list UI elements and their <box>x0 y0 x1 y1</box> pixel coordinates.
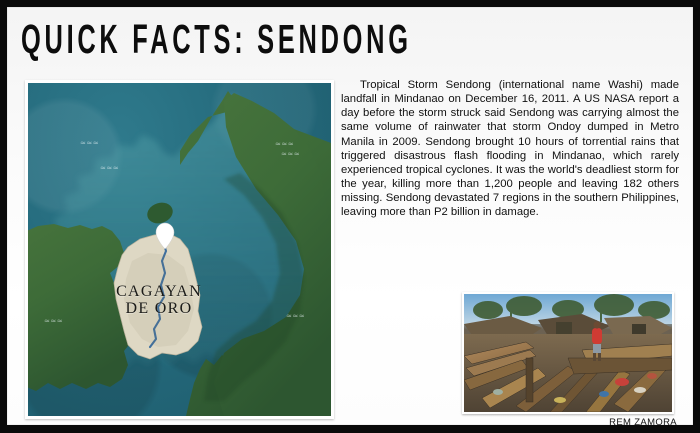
map-label-line-2: DE ORO <box>104 300 214 317</box>
article-body: Tropical Storm Sendong (international na… <box>341 78 679 220</box>
photo-figure <box>462 292 674 414</box>
photo-credit: REM ZAMORA <box>609 417 677 425</box>
title-bar: QUICK FACTS: SENDONG <box>21 13 661 65</box>
wave-glyph: ≈≈≈ <box>286 313 305 319</box>
map-landmass-svg <box>28 83 331 416</box>
wave-glyph: ≈≈≈ <box>80 140 99 146</box>
disaster-photo-illustration <box>464 294 672 412</box>
map-figure: ≈≈≈ ≈≈≈ ≈≈≈ ≈≈≈ ≈≈≈ ≈≈≈ CAGAYAN DE ORO <box>25 80 334 419</box>
infographic-panel: QUICK FACTS: SENDONG <box>7 7 693 425</box>
wave-glyph: ≈≈≈ <box>275 141 294 147</box>
map-label-cagayan-de-oro: CAGAYAN DE ORO <box>104 283 214 317</box>
wave-glyph: ≈≈≈ <box>281 151 300 157</box>
map-canvas: ≈≈≈ ≈≈≈ ≈≈≈ ≈≈≈ ≈≈≈ ≈≈≈ CAGAYAN DE ORO <box>28 83 331 416</box>
wave-glyph: ≈≈≈ <box>100 165 119 171</box>
wave-glyph: ≈≈≈ <box>44 318 63 324</box>
infographic-root: QUICK FACTS: SENDONG <box>0 0 700 433</box>
page-title: QUICK FACTS: SENDONG <box>21 13 418 65</box>
photo-canvas <box>464 294 672 412</box>
map-label-line-1: CAGAYAN <box>104 283 214 300</box>
